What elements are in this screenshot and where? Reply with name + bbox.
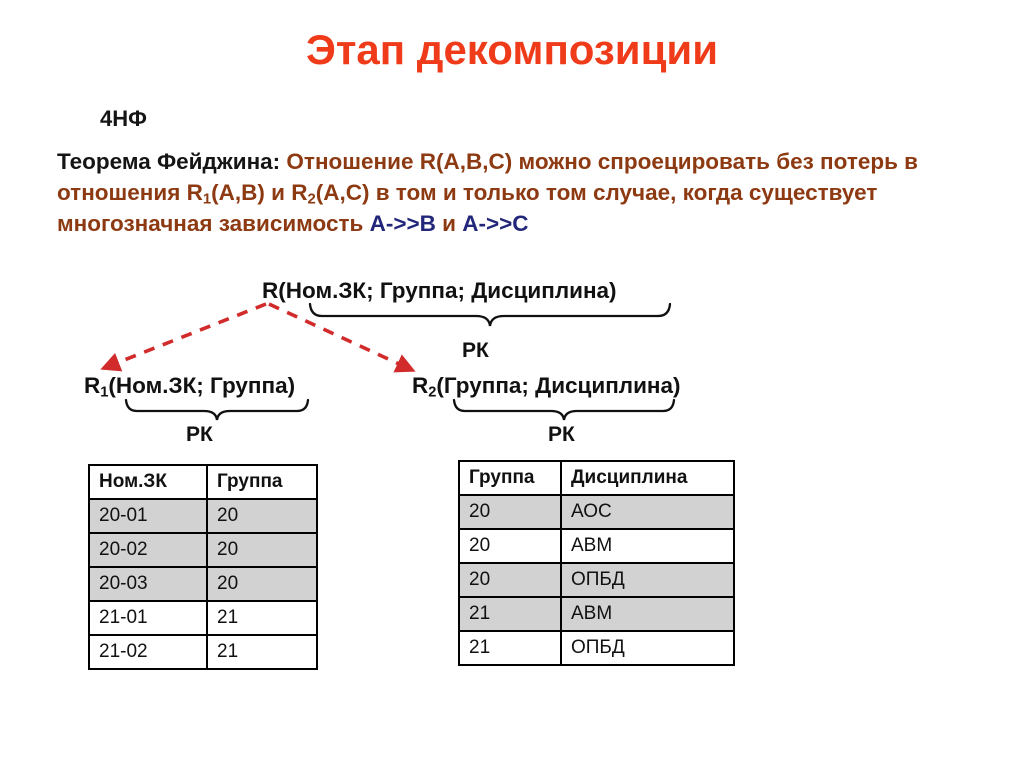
brace-r2	[452, 398, 676, 422]
table-header-row: Группа Дисциплина	[459, 461, 734, 495]
table-cell: 20-02	[89, 533, 207, 567]
table-row: 20-0120	[89, 499, 317, 533]
table-cell: 21	[459, 631, 561, 665]
table-cell: ОПБД	[561, 563, 734, 597]
column-header: Группа	[207, 465, 317, 499]
arrow-to-r1	[104, 304, 266, 368]
table-cell: 20	[207, 499, 317, 533]
table-cell: 20	[207, 567, 317, 601]
theorem-lead: Теорема Фейджина:	[57, 149, 280, 174]
pk-label-r1: РК	[186, 423, 213, 447]
theorem-paragraph: Теорема Фейджина: Отношение R(A,B,C) мож…	[57, 146, 967, 239]
slide-canvas: Этап декомпозиции 4НФ Теорема Фейджина: …	[0, 0, 1024, 767]
relation-r2: R2(Группа; Дисциплина)	[412, 373, 681, 399]
table-cell: 21	[459, 597, 561, 631]
table-r2: Группа Дисциплина 20АОС20АВМ20ОПБД21АВМ2…	[458, 460, 735, 666]
relation-r1: R1(Ном.ЗК; Группа)	[84, 373, 295, 399]
table-r1: Ном.ЗК Группа 20-012020-022020-032021-01…	[88, 464, 318, 670]
table-row: 20-0220	[89, 533, 317, 567]
table-row: 20-0320	[89, 567, 317, 601]
table-cell: 20	[207, 533, 317, 567]
normal-form-label: 4НФ	[100, 106, 147, 132]
table-cell: АВМ	[561, 529, 734, 563]
theorem-subscript-2: 2	[307, 191, 315, 207]
column-header: Дисциплина	[561, 461, 734, 495]
brace-r1	[124, 398, 310, 422]
mvd-expression-1: A->>B	[370, 211, 436, 236]
table-cell: 21-02	[89, 635, 207, 669]
pk-label-r2: РК	[548, 423, 575, 447]
table-cell: ОПБД	[561, 631, 734, 665]
table-row: 21-0121	[89, 601, 317, 635]
relation-r2-name: R	[412, 373, 428, 398]
table-row: 20ОПБД	[459, 563, 734, 597]
relation-root: R(Ном.ЗК; Группа; Дисциплина)	[262, 278, 617, 304]
theorem-conjunction: и	[436, 211, 462, 236]
table-header-row: Ном.ЗК Группа	[89, 465, 317, 499]
table-cell: 20	[459, 563, 561, 597]
table-cell: 20-01	[89, 499, 207, 533]
table-cell: АОС	[561, 495, 734, 529]
table-cell: АВМ	[561, 597, 734, 631]
table-row: 21АВМ	[459, 597, 734, 631]
table-cell: 21-01	[89, 601, 207, 635]
relation-r2-attributes: (Группа; Дисциплина)	[436, 373, 680, 398]
table-row: 21ОПБД	[459, 631, 734, 665]
column-header: Группа	[459, 461, 561, 495]
table-cell: 20	[459, 495, 561, 529]
mvd-expression-2: A->>C	[462, 211, 528, 236]
theorem-body-2: (A,B) и R	[211, 180, 307, 205]
brace-root	[308, 302, 672, 328]
pk-label-root: РК	[462, 339, 489, 363]
table-cell: 20	[459, 529, 561, 563]
table-body: 20-012020-022020-032021-012121-0221	[89, 499, 317, 669]
table-row: 20АОС	[459, 495, 734, 529]
relation-root-attributes: (Ном.ЗК; Группа; Дисциплина)	[278, 278, 616, 303]
relation-r1-name: R	[84, 373, 100, 398]
relation-root-name: R	[262, 278, 278, 303]
table-row: 21-0221	[89, 635, 317, 669]
table-cell: 20-03	[89, 567, 207, 601]
relation-r1-attributes: (Ном.ЗК; Группа)	[108, 373, 295, 398]
theorem-subscript-1: 1	[203, 191, 211, 207]
table-cell: 21	[207, 635, 317, 669]
column-header: Ном.ЗК	[89, 465, 207, 499]
page-title: Этап декомпозиции	[0, 26, 1024, 74]
table-row: 20АВМ	[459, 529, 734, 563]
arrow-to-r2	[269, 304, 412, 370]
table-cell: 21	[207, 601, 317, 635]
table-body: 20АОС20АВМ20ОПБД21АВМ21ОПБД	[459, 495, 734, 665]
